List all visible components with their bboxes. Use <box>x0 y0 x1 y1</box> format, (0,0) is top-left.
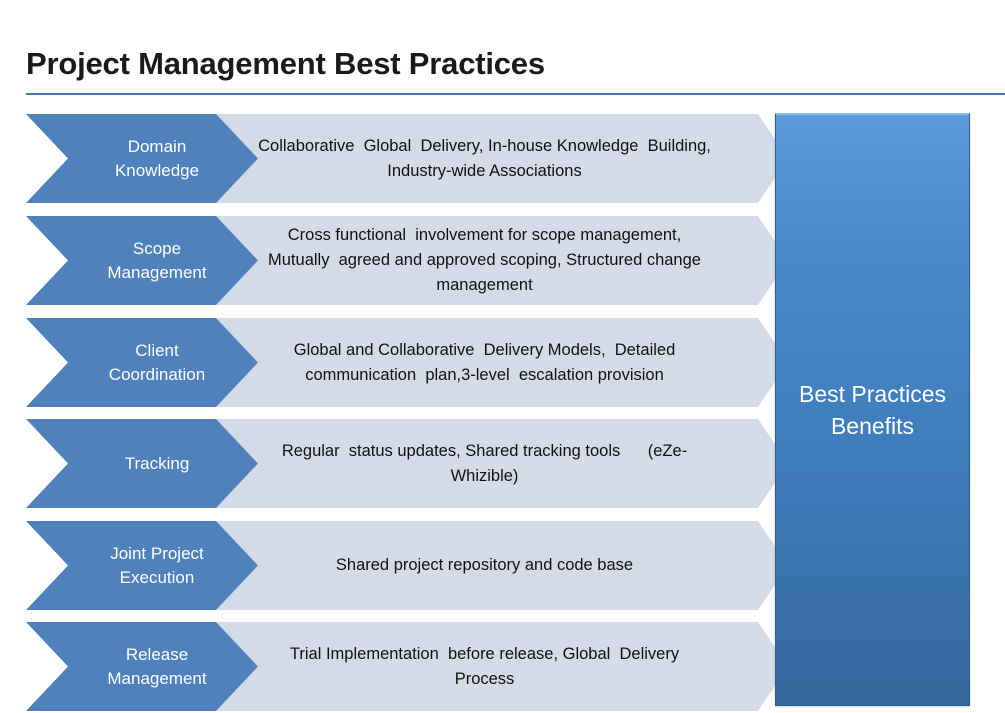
row-label-text: Tracking <box>82 452 232 476</box>
row-label-chevron[interactable]: Release Management <box>26 622 258 711</box>
process-row: Trial Implementation before release, Glo… <box>0 622 790 711</box>
row-description-text: Global and Collaborative Delivery Models… <box>230 338 740 388</box>
row-label-text: Client Coordination <box>82 339 232 387</box>
process-row: Shared project repository and code base … <box>0 521 790 610</box>
row-description-text: Collaborative Global Delivery, In-house … <box>230 134 740 184</box>
process-row: Collaborative Global Delivery, In-house … <box>0 114 790 203</box>
row-description-text: Regular status updates, Shared tracking … <box>230 439 740 489</box>
process-row: Cross functional involvement for scope m… <box>0 216 790 305</box>
row-description-text: Trial Implementation before release, Glo… <box>230 642 740 692</box>
row-label-text: Domain Knowledge <box>82 135 232 183</box>
row-label-chevron[interactable]: Domain Knowledge <box>26 114 258 203</box>
slide-canvas: Project Management Best Practices Collab… <box>0 0 1005 713</box>
row-description-text: Cross functional involvement for scope m… <box>230 223 740 298</box>
row-label-chevron[interactable]: Joint Project Execution <box>26 521 258 610</box>
process-row: Global and Collaborative Delivery Models… <box>0 318 790 407</box>
row-label-text: Scope Management <box>82 237 232 285</box>
row-description-text: Shared project repository and code base <box>230 553 740 578</box>
benefits-panel[interactable]: Best Practices Benefits <box>775 113 970 706</box>
row-label-chevron[interactable]: Tracking <box>26 419 258 508</box>
benefits-panel-text: Best Practices Benefits <box>799 378 946 442</box>
row-label-chevron[interactable]: Client Coordination <box>26 318 258 407</box>
row-label-chevron[interactable]: Scope Management <box>26 216 258 305</box>
process-row: Regular status updates, Shared tracking … <box>0 419 790 508</box>
row-label-text: Release Management <box>82 643 232 691</box>
row-label-text: Joint Project Execution <box>82 542 232 590</box>
